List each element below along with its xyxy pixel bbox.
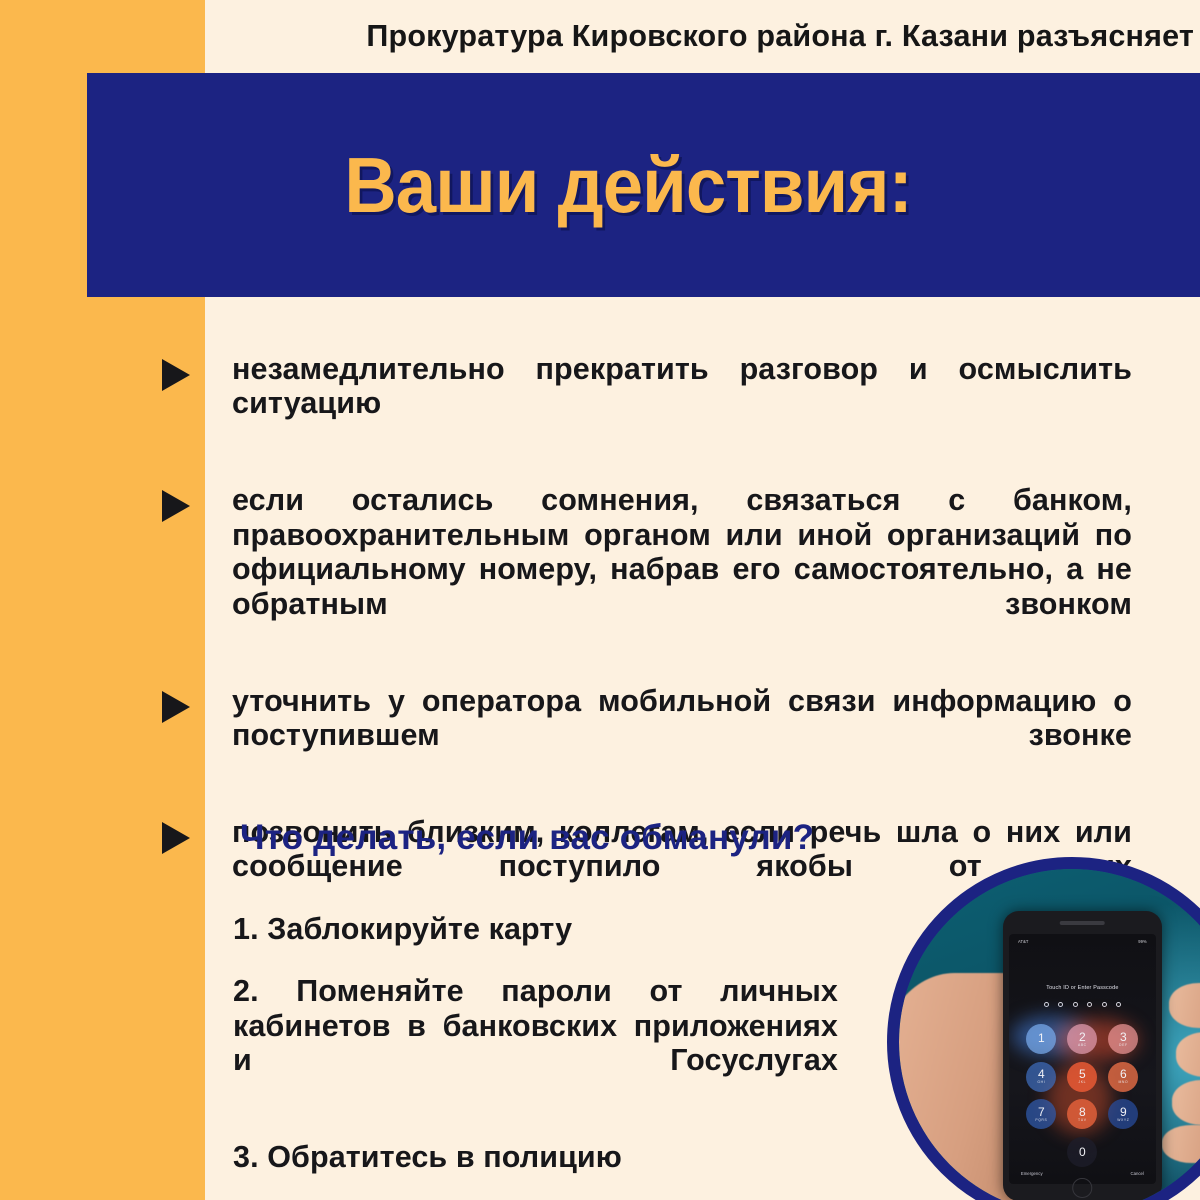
keypad-key-2: 2 ABC	[1067, 1024, 1097, 1054]
list-item: 2. Поменяйте пароли от личных кабинетов …	[233, 974, 838, 1112]
passcode-prompt: Touch ID or Enter Passcode	[1009, 985, 1155, 991]
key-letters: PQRS	[1035, 1119, 1047, 1122]
key-number: 6	[1120, 1068, 1127, 1080]
key-letters: DEF	[1119, 1044, 1128, 1047]
passcode-dot	[1102, 1002, 1107, 1007]
emergency-button: Emergency	[1021, 1171, 1043, 1176]
passcode-keypad: 1 2 ABC 3 DEF 4 GHI	[1021, 1024, 1144, 1144]
finger-shape	[1169, 983, 1200, 1028]
finger-shape	[1172, 1080, 1200, 1125]
keypad-key-3: 3 DEF	[1108, 1024, 1138, 1054]
key-number: 8	[1079, 1106, 1086, 1118]
key-letters: MNO	[1118, 1081, 1128, 1084]
triangle-bullet-icon	[162, 691, 190, 723]
list-item: уточнить у оператора мобильной связи инф…	[0, 684, 1200, 787]
key-number: 3	[1120, 1031, 1127, 1043]
poster-canvas: Прокуратура Кировского района г. Казани …	[0, 0, 1200, 1200]
finger-shape	[1176, 1032, 1200, 1077]
passcode-dot	[1087, 1002, 1092, 1007]
passcode-dots	[1009, 1002, 1155, 1007]
keypad-key-0: 0	[1067, 1137, 1097, 1167]
keypad-key-9: 9 WXYZ	[1108, 1099, 1138, 1129]
keypad-key-1: 1	[1026, 1024, 1056, 1054]
cancel-button: Cancel	[1130, 1171, 1143, 1176]
keypad-key-5: 5 JKL	[1067, 1062, 1097, 1092]
triangle-bullet-icon	[162, 822, 190, 854]
keypad-key-6: 6 MNO	[1108, 1062, 1138, 1092]
list-item: 3. Обратитесь в полицию	[233, 1140, 838, 1174]
carrier-label: AT&T	[1018, 939, 1029, 944]
triangle-bullet-icon	[162, 359, 190, 391]
list-item: незамедлительно прекратить разговор и ос…	[0, 352, 1200, 455]
header-bar: Прокуратура Кировского района г. Казани …	[0, 0, 1200, 73]
key-number: 5	[1079, 1068, 1086, 1080]
key-number: 1	[1038, 1032, 1045, 1044]
key-letters: TUV	[1078, 1119, 1087, 1122]
list-item: если остались сомнения, связаться с банк…	[0, 483, 1200, 655]
home-button	[1073, 1178, 1093, 1198]
actions-list: незамедлительно прекратить разговор и ос…	[0, 352, 1200, 946]
list-item-text: если остались сомнения, связаться с банк…	[232, 483, 1132, 655]
page-title: Ваши действия:	[345, 146, 912, 224]
key-letters: WXYZ	[1117, 1119, 1129, 1122]
key-letters: JKL	[1079, 1081, 1087, 1084]
earpiece-speaker	[1060, 921, 1105, 926]
phone-lockscreen: AT&T 99% Touch ID or Enter Passcode	[1009, 934, 1155, 1184]
passcode-dot	[1058, 1002, 1063, 1007]
keypad-key-8: 8 TUV	[1067, 1099, 1097, 1129]
smartphone: AT&T 99% Touch ID or Enter Passcode	[1003, 911, 1162, 1200]
key-letters: ABC	[1078, 1044, 1087, 1047]
key-number: 0	[1079, 1146, 1086, 1158]
list-item-text: уточнить у оператора мобильной связи инф…	[232, 684, 1132, 787]
key-number: 7	[1038, 1106, 1045, 1118]
phone-status-bar: AT&T 99%	[1018, 939, 1147, 944]
key-letters: GHI	[1037, 1081, 1045, 1084]
keypad-key-4: 4 GHI	[1026, 1062, 1056, 1092]
passcode-dot	[1073, 1002, 1078, 1007]
passcode-dot	[1044, 1002, 1049, 1007]
keypad-key-7: 7 PQRS	[1026, 1099, 1056, 1129]
list-item: 1. Заблокируйте карту	[233, 912, 838, 946]
photo-inner: AT&T 99% Touch ID or Enter Passcode	[899, 869, 1200, 1200]
battery-label: 99%	[1138, 939, 1147, 944]
deceived-steps-list: 1. Заблокируйте карту 2. Поменяйте парол…	[233, 912, 838, 1200]
section-heading-deceived: Что делать, если вас обманули?	[240, 820, 814, 855]
lockscreen-actions: Emergency Cancel	[1021, 1171, 1144, 1176]
key-number: 4	[1038, 1068, 1045, 1080]
key-number: 2	[1079, 1031, 1086, 1043]
key-number: 9	[1120, 1106, 1127, 1118]
triangle-bullet-icon	[162, 490, 190, 522]
finger-shape	[1162, 1125, 1200, 1163]
title-banner: Ваши действия:	[87, 73, 1200, 297]
passcode-dot	[1116, 1002, 1121, 1007]
list-item-text: незамедлительно прекратить разговор и ос…	[232, 352, 1132, 455]
header-title: Прокуратура Кировского района г. Казани …	[366, 21, 1194, 52]
